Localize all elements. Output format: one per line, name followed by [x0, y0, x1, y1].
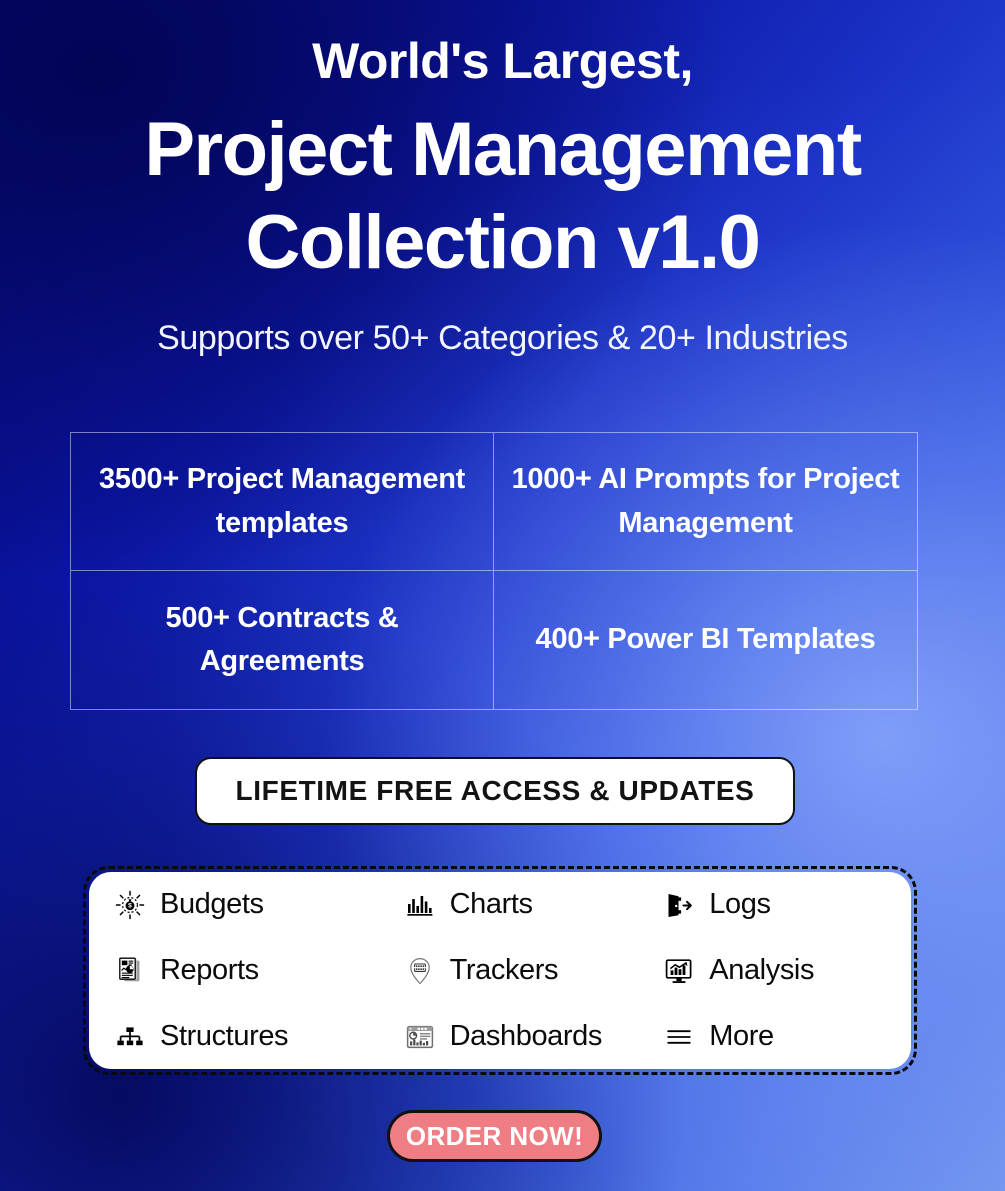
- features-card: $ Budgets Cha: [89, 872, 911, 1069]
- stats-grid: 3500+ Project Management templates 1000+…: [70, 432, 918, 710]
- feature-label: Structures: [160, 1020, 288, 1053]
- feature-label: Budgets: [160, 888, 264, 921]
- dashboard-panel-icon: [405, 1022, 435, 1052]
- money-bag-icon: $: [115, 890, 145, 920]
- report-document-icon: [115, 956, 145, 986]
- org-chart-icon: [115, 1022, 145, 1052]
- feature-item-dashboards[interactable]: Dashboards: [405, 1009, 665, 1065]
- feature-label: Analysis: [709, 954, 814, 987]
- feature-item-logs[interactable]: Logs: [664, 877, 889, 933]
- feature-label: More: [709, 1020, 773, 1053]
- heading-line-2: Project Management: [0, 104, 1005, 197]
- feature-item-budgets[interactable]: $ Budgets: [115, 877, 405, 933]
- hamburger-lines-icon: [664, 1022, 694, 1052]
- feature-item-trackers[interactable]: Trackers: [405, 943, 665, 999]
- hero-heading-block: World's Largest, Project Management Coll…: [0, 0, 1005, 358]
- feature-label: Charts: [450, 888, 533, 921]
- heading-line-1: World's Largest,: [0, 34, 1005, 88]
- feature-label: Dashboards: [450, 1020, 602, 1053]
- location-pin-icon: [405, 956, 435, 986]
- feature-label: Reports: [160, 954, 259, 987]
- feature-item-structures[interactable]: Structures: [115, 1009, 405, 1065]
- features-panel: $ Budgets Cha: [83, 866, 917, 1075]
- hero-subtitle: Supports over 50+ Categories & 20+ Indus…: [0, 319, 1005, 358]
- bar-chart-icon: [405, 890, 435, 920]
- feature-item-reports[interactable]: Reports: [115, 943, 405, 999]
- order-now-button[interactable]: ORDER NOW!: [387, 1110, 602, 1162]
- exit-door-icon: [664, 890, 694, 920]
- lifetime-access-badge: LIFETIME FREE ACCESS & UPDATES: [195, 757, 795, 825]
- feature-item-more[interactable]: More: [664, 1009, 889, 1065]
- stat-cell: 500+ Contracts & Agreements: [71, 571, 494, 709]
- feature-label: Trackers: [450, 954, 559, 987]
- stat-cell: 400+ Power BI Templates: [494, 571, 917, 709]
- stat-cell: 1000+ AI Prompts for Project Management: [494, 433, 917, 571]
- svg-text:$: $: [128, 902, 132, 909]
- heading-line-3: Collection v1.0: [0, 197, 1005, 290]
- feature-item-charts[interactable]: Charts: [405, 877, 665, 933]
- stat-cell: 3500+ Project Management templates: [71, 433, 494, 571]
- feature-label: Logs: [709, 888, 770, 921]
- monitor-chart-icon: [664, 956, 694, 986]
- feature-item-analysis[interactable]: Analysis: [664, 943, 889, 999]
